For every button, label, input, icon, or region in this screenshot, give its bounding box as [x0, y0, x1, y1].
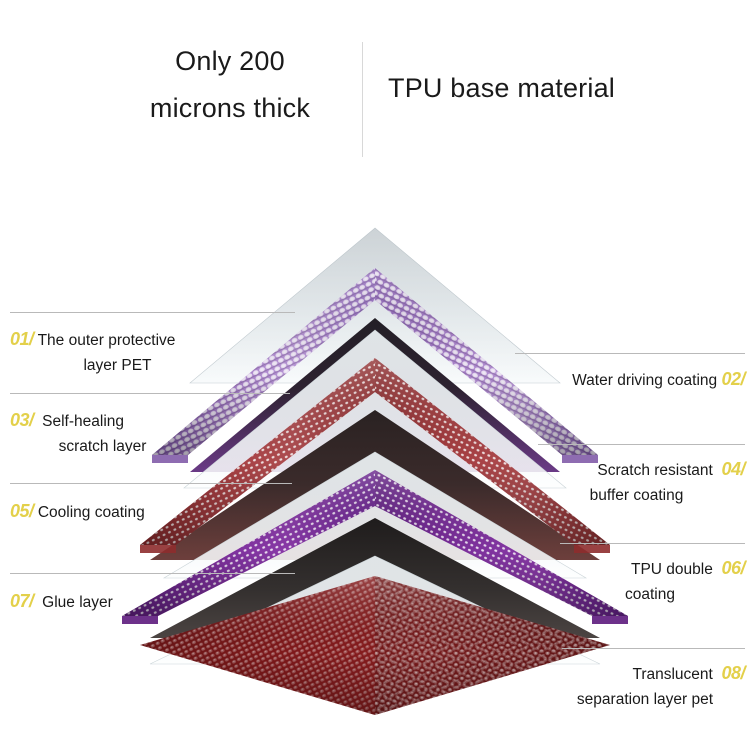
header-right-text: TPU base material	[388, 70, 718, 108]
callout-02-line1: Water driving coating	[572, 372, 717, 389]
callout-07-number: 07/	[10, 591, 34, 611]
callout-01[interactable]: 01/ The outer protective layer PET	[10, 326, 225, 378]
callout-02-number: 02/	[721, 369, 745, 389]
callout-04-line1: Scratch resistant	[597, 462, 712, 479]
callout-03[interactable]: 03/ Self-healing scratch layer	[10, 407, 195, 459]
header-left-line2: microns thick	[110, 85, 350, 132]
callout-08-line1: Translucent	[632, 666, 712, 683]
callout-01-line2: layer PET	[10, 354, 225, 378]
leader-line-05	[10, 483, 292, 484]
layer-core-purple	[190, 318, 560, 472]
callout-06-number: 06/	[721, 558, 745, 578]
header-left-line1: Only 200	[110, 38, 350, 85]
leader-line-04	[538, 444, 745, 445]
infographic-canvas: Only 200 microns thick TPU base material	[0, 0, 750, 750]
callout-04-line2: buffer coating	[528, 484, 745, 508]
leader-line-07	[10, 573, 295, 574]
leader-line-03	[10, 393, 290, 394]
callout-04[interactable]: Scratch resistant 04/ buffer coating	[528, 456, 745, 508]
callout-08[interactable]: Translucent 08/ separation layer pet	[545, 660, 745, 712]
leader-line-01	[10, 312, 295, 313]
callout-08-number: 08/	[721, 663, 745, 683]
callout-06-line2: coating	[555, 583, 745, 607]
callout-07-line1: Glue layer	[42, 594, 113, 611]
callout-05[interactable]: 05/ Cooling coating	[10, 498, 210, 526]
callout-01-line1: The outer protective	[38, 332, 176, 349]
callout-05-line1: Cooling coating	[38, 504, 145, 521]
callout-03-line2: scratch layer	[10, 435, 195, 459]
layer-core-black-1	[150, 518, 600, 638]
callout-06[interactable]: TPU double 06/ coating	[555, 555, 745, 607]
callout-03-number: 03/	[10, 410, 34, 430]
leader-line-02	[515, 353, 745, 354]
layer-sheet-1	[190, 228, 560, 383]
layer-sheet-2	[184, 330, 566, 488]
layer-mesh-dark-red-diamond	[140, 576, 610, 715]
callout-08-line2: separation layer pet	[545, 688, 745, 712]
callout-04-number: 04/	[721, 459, 745, 479]
header-divider	[362, 42, 363, 157]
leader-line-08	[562, 648, 745, 649]
header-left-text: Only 200 microns thick	[110, 38, 350, 133]
callout-07[interactable]: 07/ Glue layer	[10, 588, 210, 616]
leader-line-06	[560, 543, 745, 544]
callout-03-line1: Self-healing	[42, 413, 124, 430]
callout-02[interactable]: Water driving coating 02/	[505, 366, 745, 394]
callout-05-number: 05/	[10, 501, 34, 521]
callout-06-line1: TPU double	[631, 561, 713, 578]
callout-01-number: 01/	[10, 329, 34, 349]
layer-sheet-3	[164, 452, 586, 578]
